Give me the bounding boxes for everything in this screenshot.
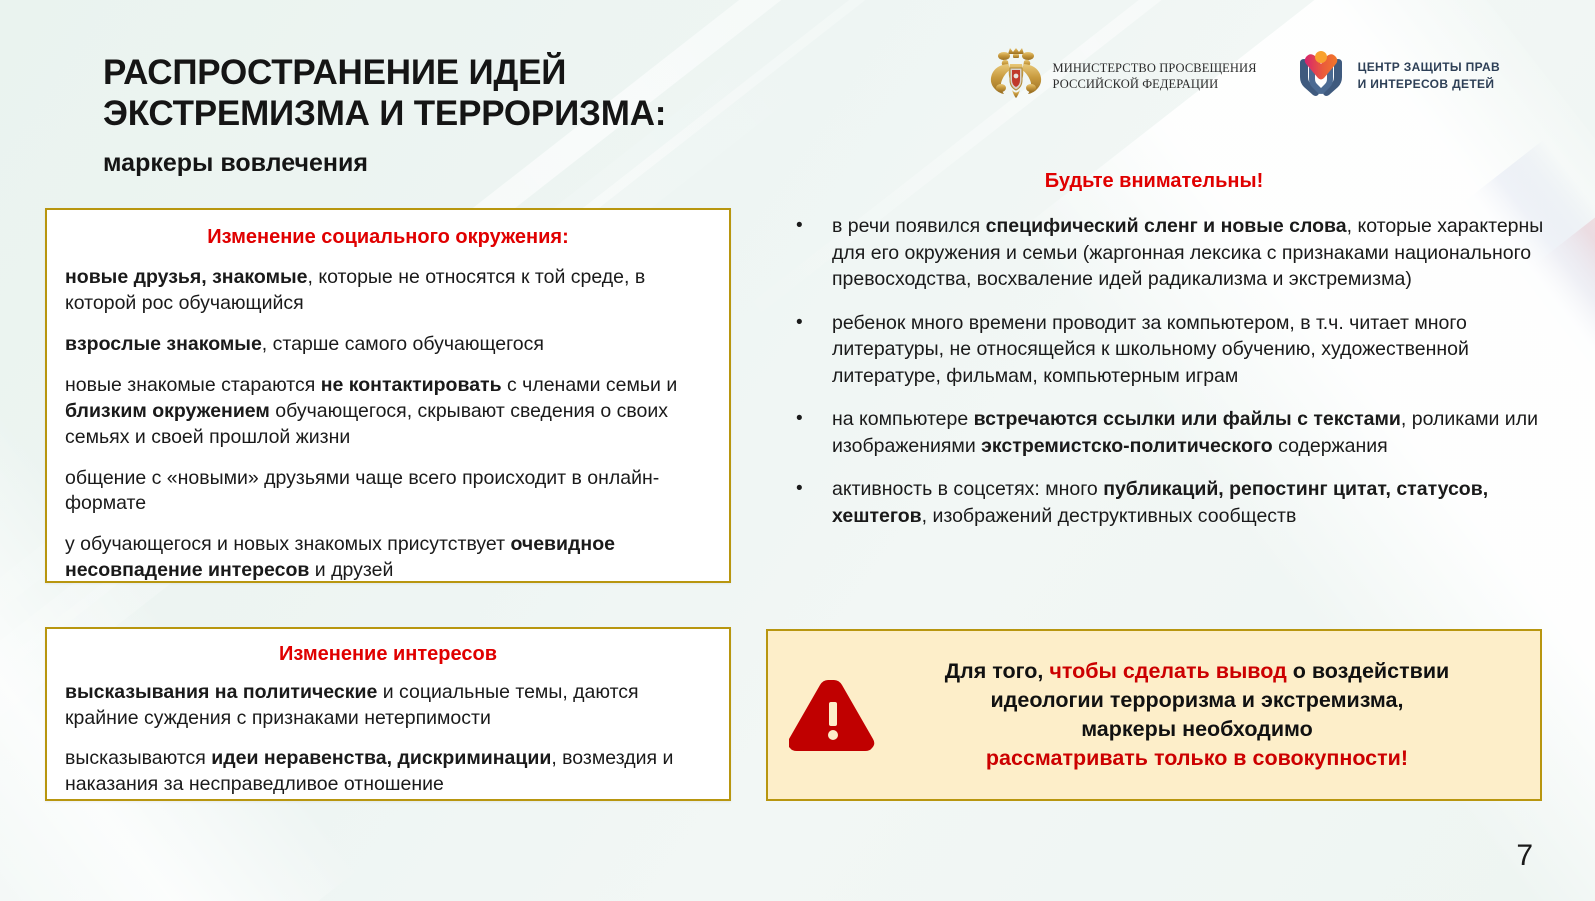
warning-line: маркеры необходимо bbox=[880, 715, 1514, 744]
list-item-text: ребенок много времени проводит за компью… bbox=[832, 310, 1550, 390]
card-social-environment-title: Изменение социального окружения: bbox=[65, 226, 711, 249]
attention-bullet-list: •в речи появился специфический сленг и н… bbox=[790, 213, 1550, 529]
page-title-line-2: ЭКСТРЕМИЗМА И ТЕРРОРИЗМА: bbox=[103, 93, 803, 134]
card-paragraph: высказываются идеи неравенства, дискрими… bbox=[65, 746, 711, 798]
russian-double-headed-eagle-emblem-icon bbox=[988, 44, 1044, 107]
card-paragraph: общение с «новыми» друзьями чаще всего п… bbox=[65, 466, 711, 518]
card-interest-change: Изменение интересов высказывания на поли… bbox=[45, 627, 731, 801]
card-interest-change-title: Изменение интересов bbox=[65, 643, 711, 666]
card-paragraph: у обучающегося и новых знакомых присутст… bbox=[65, 532, 711, 584]
card-paragraph: взрослые знакомые, старше самого обучающ… bbox=[65, 332, 711, 358]
list-item-text: на компьютере встречаются ссылки или фай… bbox=[832, 406, 1550, 459]
list-item: •в речи появился специфический сленг и н… bbox=[790, 213, 1550, 293]
warning-callout-box: Для того, чтобы сделать вывод о воздейст… bbox=[766, 629, 1542, 801]
warning-line: Для того, чтобы сделать вывод о воздейст… bbox=[880, 657, 1514, 686]
card-paragraph: новые друзья, знакомые, которые не относ… bbox=[65, 265, 711, 317]
warning-callout-text: Для того, чтобы сделать вывод о воздейст… bbox=[880, 657, 1524, 774]
warning-line: рассматривать только в совокупности! bbox=[880, 744, 1514, 773]
page-title-line-1: РАСПРОСТРАНЕНИЕ ИДЕЙ bbox=[103, 52, 803, 93]
hands-heart-child-protection-logo-icon bbox=[1293, 44, 1349, 107]
child-rights-center-logo: ЦЕНТР ЗАЩИТЫ ПРАВ И ИНТЕРЕСОВ ДЕТЕЙ bbox=[1293, 44, 1500, 107]
card-paragraph: высказывания на политические и социальны… bbox=[65, 680, 711, 732]
slide-canvas: РАСПРОСТРАНЕНИЕ ИДЕЙ ЭКСТРЕМИЗМА И ТЕРРО… bbox=[0, 0, 1595, 901]
card-interest-change-body: высказывания на политические и социальны… bbox=[65, 680, 711, 798]
list-item-text: в речи появился специфический сленг и но… bbox=[832, 213, 1550, 293]
warning-triangle-icon bbox=[784, 676, 880, 754]
ministry-of-education-logo: МИНИСТЕРСТВО ПРОСВЕЩЕНИЯ РОССИЙСКОЙ ФЕДЕ… bbox=[988, 44, 1257, 107]
bullet-dot-icon: • bbox=[790, 310, 832, 336]
card-paragraph: новые знакомые стараются не контактирова… bbox=[65, 373, 711, 451]
warning-line: идеологии терроризма и экстремизма, bbox=[880, 686, 1514, 715]
page-title: РАСПРОСТРАНЕНИЕ ИДЕЙ ЭКСТРЕМИЗМА И ТЕРРО… bbox=[103, 52, 803, 178]
list-item: •на компьютере встречаются ссылки или фа… bbox=[790, 406, 1550, 459]
bullet-dot-icon: • bbox=[790, 476, 832, 502]
card-social-environment-body: новые друзья, знакомые, которые не относ… bbox=[65, 265, 711, 584]
list-item-text: активность в соцсетях: много публикаций,… bbox=[832, 476, 1550, 529]
attention-heading: Будьте внимательны! bbox=[768, 170, 1540, 193]
list-item: •активность в соцсетях: много публикаций… bbox=[790, 476, 1550, 529]
page-number: 7 bbox=[1516, 839, 1533, 873]
center-logo-text: ЦЕНТР ЗАЩИТЫ ПРАВ И ИНТЕРЕСОВ ДЕТЕЙ bbox=[1358, 59, 1500, 92]
bullet-dot-icon: • bbox=[790, 406, 832, 432]
page-subtitle: маркеры вовлечения bbox=[103, 149, 803, 178]
list-item: •ребенок много времени проводит за компь… bbox=[790, 310, 1550, 390]
card-social-environment: Изменение социального окружения: новые д… bbox=[45, 208, 731, 583]
logo-bar: МИНИСТЕРСТВО ПРОСВЕЩЕНИЯ РОССИЙСКОЙ ФЕДЕ… bbox=[988, 44, 1500, 107]
bullet-dot-icon: • bbox=[790, 213, 832, 239]
ministry-logo-text: МИНИСТЕРСТВО ПРОСВЕЩЕНИЯ РОССИЙСКОЙ ФЕДЕ… bbox=[1053, 60, 1257, 92]
